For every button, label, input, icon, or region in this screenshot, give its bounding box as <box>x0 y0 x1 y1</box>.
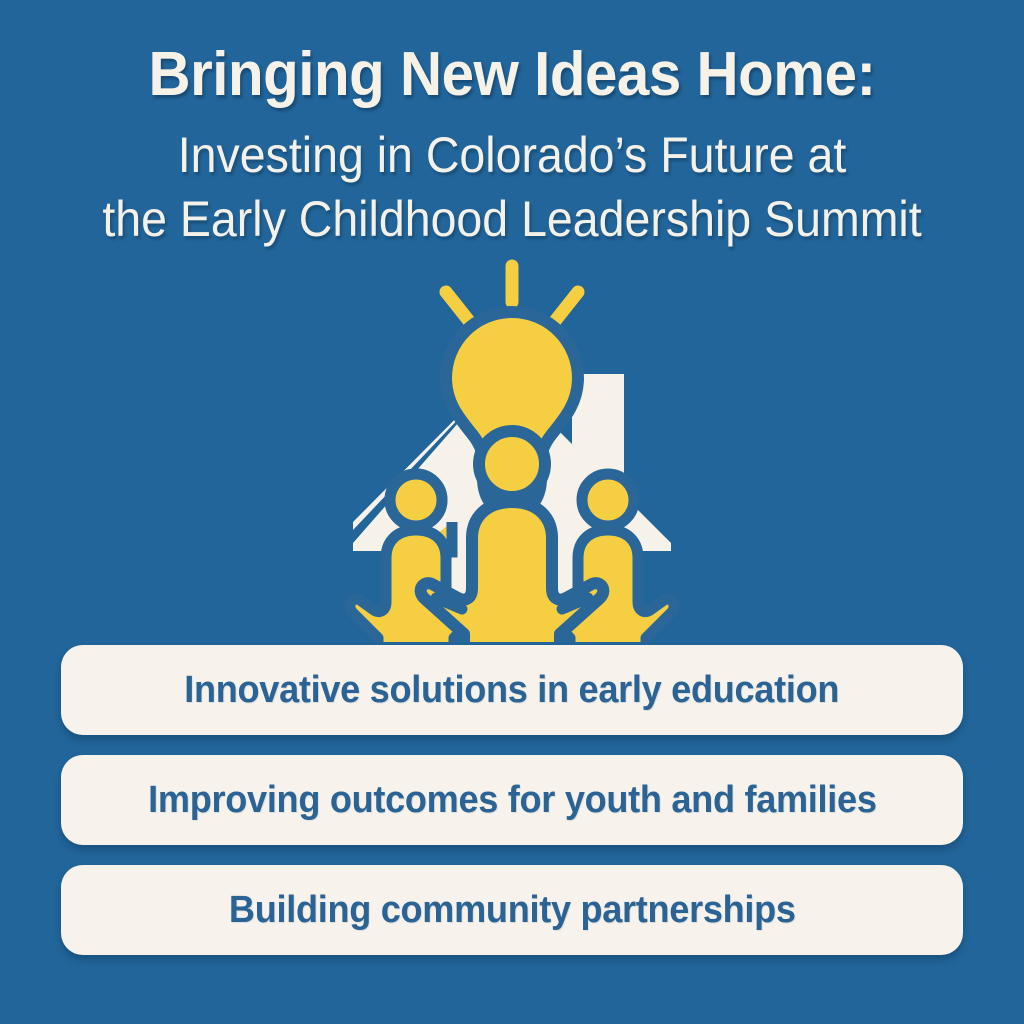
highlight-card[interactable]: Building community partnerships <box>61 865 963 955</box>
highlight-card-list: Innovative solutions in early education … <box>61 645 963 955</box>
highlight-card-label: Innovative solutions in early education <box>185 669 840 712</box>
page-subtitle-line-2: the Early Childhood Leadership Summit <box>36 187 988 251</box>
highlight-card-label: Building community partnerships <box>229 889 796 932</box>
highlight-card[interactable]: Improving outcomes for youth and familie… <box>61 755 963 845</box>
poster-canvas: Bringing New Ideas Home: Investing in Co… <box>0 0 1024 1024</box>
house-family-lightbulb-illustration <box>312 252 712 642</box>
header-block: Bringing New Ideas Home: Investing in Co… <box>0 42 1024 251</box>
highlight-card[interactable]: Innovative solutions in early education <box>61 645 963 735</box>
page-subtitle-line-1: Investing in Colorado’s Future at <box>36 123 988 187</box>
highlight-card-label: Improving outcomes for youth and familie… <box>148 779 876 822</box>
page-title: Bringing New Ideas Home: <box>31 42 994 107</box>
